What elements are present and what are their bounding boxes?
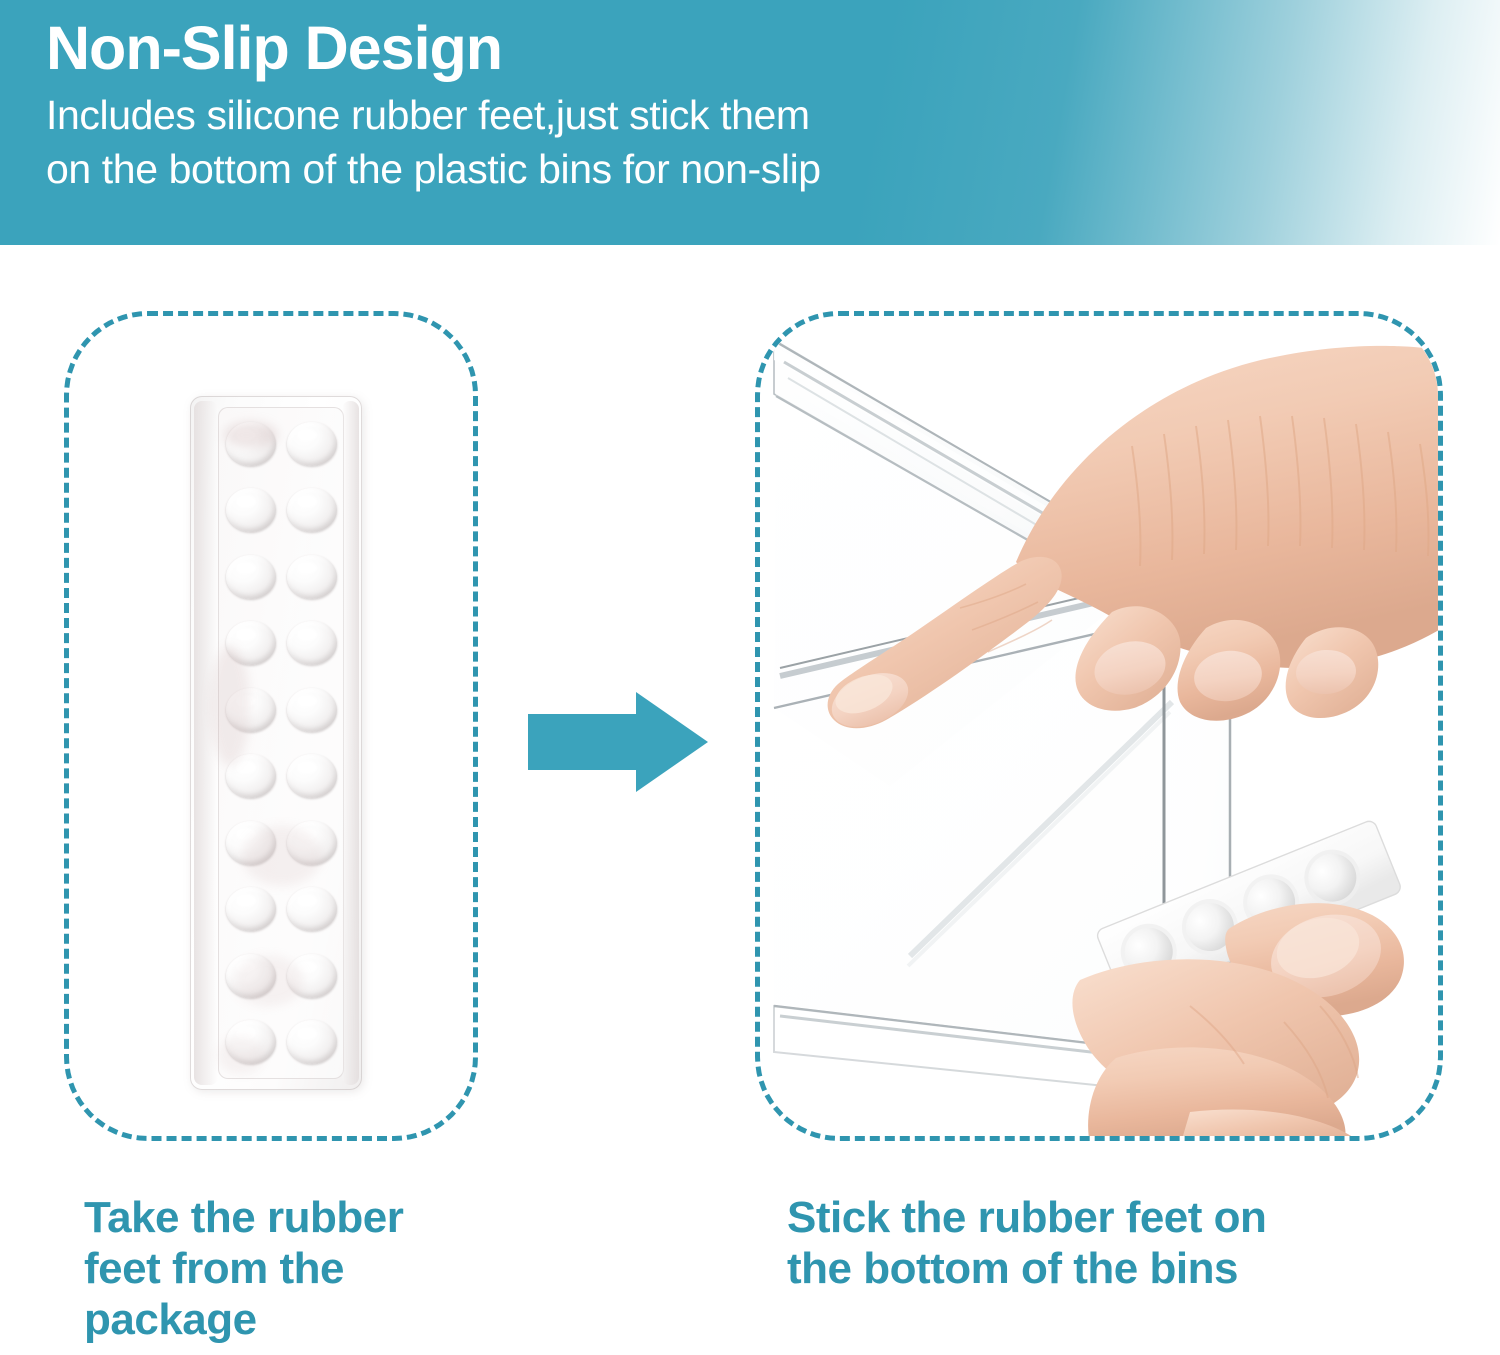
rubber-foot [221, 544, 280, 610]
rubber-foot [221, 1010, 280, 1076]
rubber-foot [221, 943, 280, 1009]
step-2-image-clip [760, 316, 1438, 1136]
header-subtitle-line-1: Includes silicone rubber feet,just stick… [46, 88, 1500, 142]
rubber-foot [221, 677, 280, 743]
step-1-caption-line-1: Take the rubber [84, 1192, 514, 1243]
step-2-caption: Stick the rubber feet on the bottom of t… [787, 1192, 1447, 1294]
rubber-foot [282, 611, 341, 677]
page-title: Non-Slip Design [46, 8, 1500, 82]
blister-tray [218, 407, 344, 1079]
rubber-foot [221, 611, 280, 677]
right-arrow-icon [528, 692, 708, 792]
step-1-caption-line-3: package [84, 1294, 514, 1345]
header-subtitle: Includes silicone rubber feet,just stick… [46, 88, 1500, 196]
rubber-foot [221, 744, 280, 810]
header-subtitle-line-2: on the bottom of the plastic bins for no… [46, 142, 1500, 196]
rubber-foot [282, 544, 341, 610]
rubber-foot [282, 677, 341, 743]
rubber-foot [221, 877, 280, 943]
step-2-caption-line-2: the bottom of the bins [787, 1243, 1447, 1294]
rubber-foot [282, 943, 341, 1009]
rubber-foot [221, 810, 280, 876]
step-1-caption: Take the rubber feet from the package [84, 1192, 514, 1345]
rubber-foot [282, 411, 341, 477]
step-2-panel [755, 311, 1443, 1141]
step-1-image-clip [69, 316, 473, 1136]
blister-pack-image [190, 396, 362, 1090]
rubber-foot [282, 478, 341, 544]
header-banner: Non-Slip Design Includes silicone rubber… [0, 0, 1500, 245]
rubber-foot [282, 810, 341, 876]
rubber-foot [282, 877, 341, 943]
rubber-foot [282, 1010, 341, 1076]
rubber-foot [282, 744, 341, 810]
step-1-panel [64, 311, 478, 1141]
step-2-caption-line-1: Stick the rubber feet on [787, 1192, 1447, 1243]
clear-plastic-bin-image [760, 316, 1438, 1136]
step-1-caption-line-2: feet from the [84, 1243, 514, 1294]
rubber-foot [221, 478, 280, 544]
rubber-foot [221, 411, 280, 477]
